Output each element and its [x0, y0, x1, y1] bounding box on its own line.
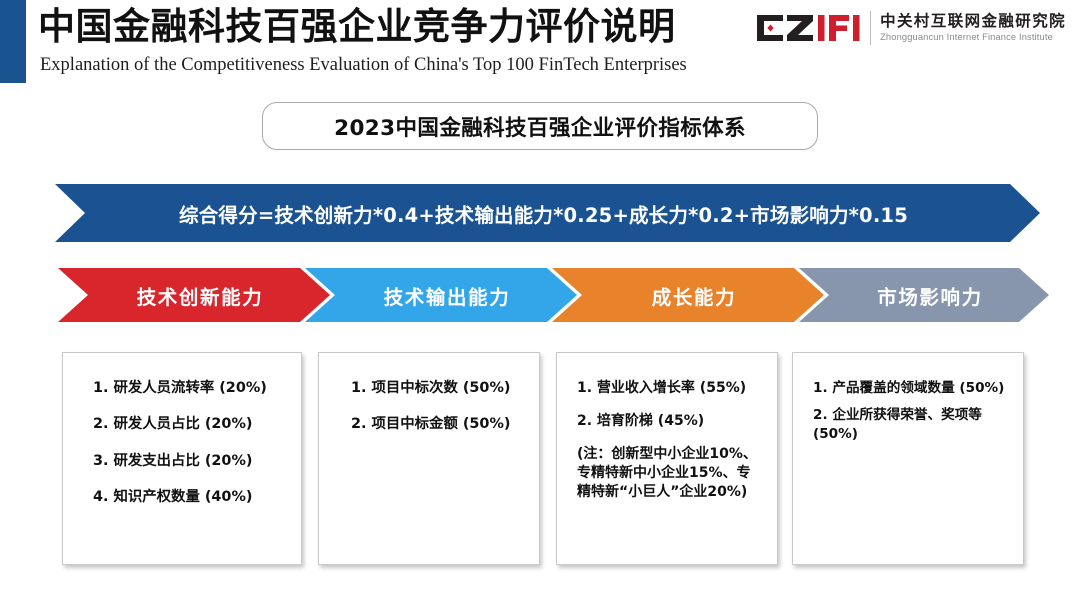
indicator-item: 1. 营业收入增长率 (55%) — [571, 379, 763, 398]
logo-name-cn: 中关村互联网金融研究院 — [880, 14, 1066, 30]
indicator-item: 3. 研发支出占比 (20%) — [77, 452, 287, 471]
dimension-chevron-market-influence[interactable]: 市场影响力 — [799, 268, 1049, 322]
dimension-label: 成长能力 — [652, 281, 736, 310]
dimension-chevron-growth[interactable]: 成长能力 — [552, 268, 824, 322]
indicator-box-market-influence: 1. 产品覆盖的领域数量 (50%) 2. 企业所获得荣誉、奖项等 (50%) — [792, 352, 1024, 565]
indicator-item: 1. 产品覆盖的领域数量 (50%) — [807, 379, 1009, 397]
indicator-item: 2. 培育阶梯 (45%) — [571, 412, 763, 431]
dimension-label: 技术创新能力 — [137, 281, 264, 310]
indicator-item-note: (注：创新型中小企业10%、专精特新中小企业15%、专精特新“小巨人”企业20%… — [571, 445, 763, 502]
dimension-chevron-row: 技术创新能力 技术输出能力 成长能力 市场影响力 — [0, 268, 1080, 324]
indicator-item: 2. 研发人员占比 (20%) — [77, 415, 287, 434]
dimension-label: 技术输出能力 — [384, 281, 511, 310]
indicator-system-title-label: 2023中国金融科技百强企业评价指标体系 — [334, 111, 746, 142]
logo-name-group: 中关村互联网金融研究院 Zhongguancun Internet Financ… — [880, 14, 1066, 43]
indicator-item: 2. 项目中标金额 (50%) — [333, 415, 525, 434]
indicator-box-tech-output: 1. 项目中标次数 (50%) 2. 项目中标金额 (50%) — [318, 352, 540, 565]
institute-logo: 中关村互联网金融研究院 Zhongguancun Internet Financ… — [757, 11, 1066, 45]
indicator-box-tech-innovation: 1. 研发人员流转率 (20%) 2. 研发人员占比 (20%) 3. 研发支出… — [62, 352, 302, 565]
slide-root: 中国金融科技百强企业竞争力评价说明 Explanation of the Com… — [0, 0, 1080, 608]
logo-name-en: Zhongguancun Internet Finance Institute — [880, 33, 1066, 42]
dimension-chevron-tech-output[interactable]: 技术输出能力 — [305, 268, 577, 322]
indicator-system-title-box: 2023中国金融科技百强企业评价指标体系 — [262, 102, 818, 150]
indicator-box-row: 1. 研发人员流转率 (20%) 2. 研发人员占比 (20%) 3. 研发支出… — [0, 352, 1080, 565]
indicator-item: 1. 项目中标次数 (50%) — [333, 379, 525, 398]
indicator-item: 1. 研发人员流转率 (20%) — [77, 379, 287, 398]
indicator-box-growth: 1. 营业收入增长率 (55%) 2. 培育阶梯 (45%) (注：创新型中小企… — [556, 352, 778, 565]
czifi-wordmark-icon — [757, 13, 861, 43]
header-accent-bar — [0, 0, 26, 83]
logo-divider — [870, 11, 871, 45]
page-subtitle: Explanation of the Competitiveness Evalu… — [40, 53, 687, 77]
score-formula-banner: 综合得分=技术创新力*0.4+技术输出能力*0.25+成长力*0.2+市场影响力… — [55, 184, 1040, 242]
score-formula-text: 综合得分=技术创新力*0.4+技术输出能力*0.25+成长力*0.2+市场影响力… — [179, 199, 908, 228]
page-title: 中国金融科技百强企业竞争力评价说明 — [38, 4, 687, 48]
dimension-chevron-tech-innovation[interactable]: 技术创新能力 — [58, 268, 330, 322]
indicator-item: 4. 知识产权数量 (40%) — [77, 488, 287, 507]
header-text-group: 中国金融科技百强企业竞争力评价说明 Explanation of the Com… — [38, 4, 687, 77]
dimension-label: 市场影响力 — [877, 281, 983, 310]
indicator-item: 2. 企业所获得荣誉、奖项等 (50%) — [807, 406, 1009, 443]
